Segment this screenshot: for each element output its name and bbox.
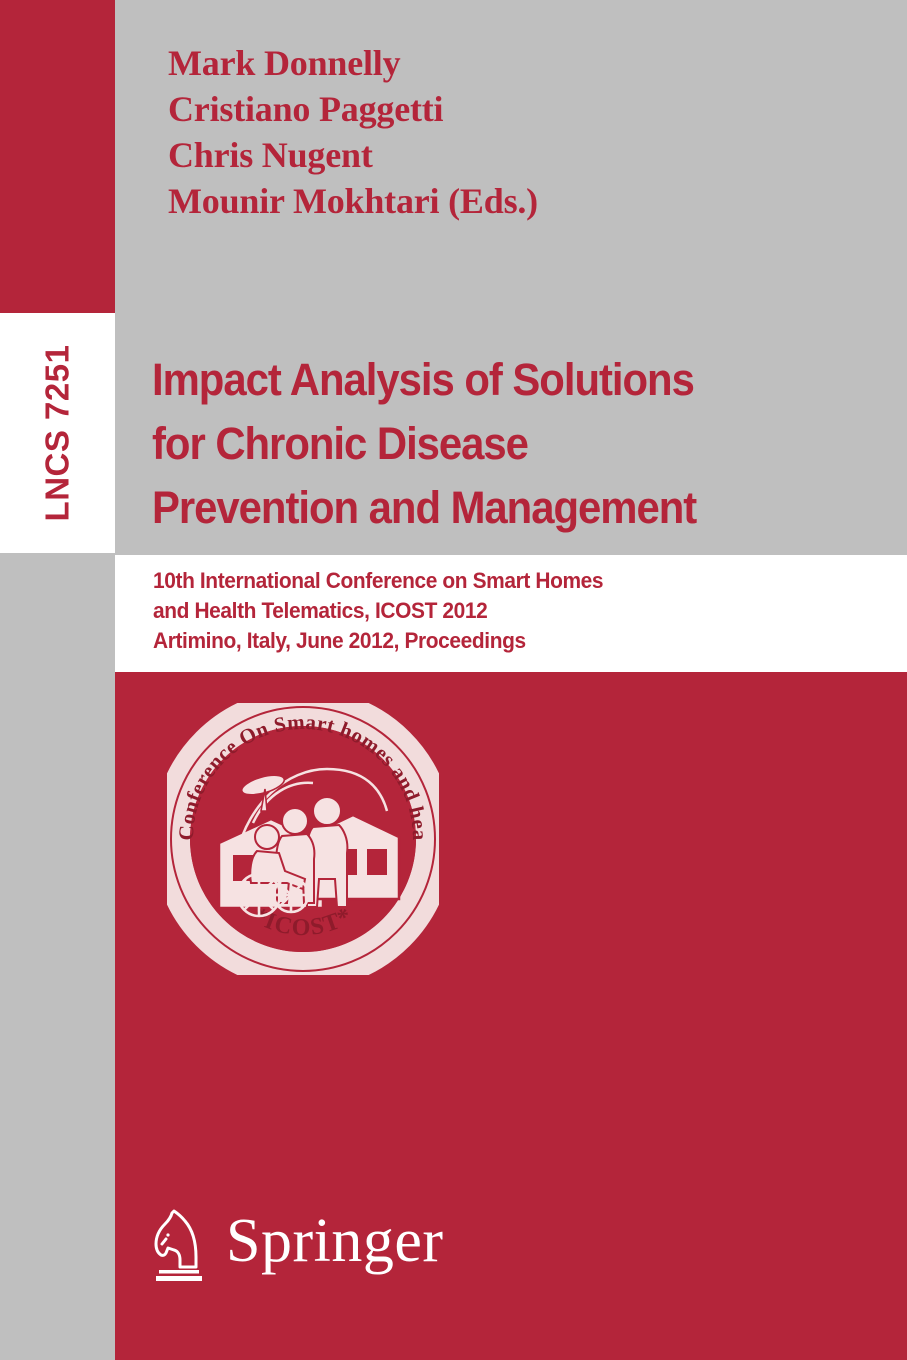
editor-name: Mounir Mokhtari (Eds.) — [168, 178, 868, 224]
book-cover: LNCS 7251 Mark Donnelly Cristiano Pagget… — [0, 0, 907, 1360]
editor-name: Chris Nugent — [168, 132, 868, 178]
editor-name: Cristiano Paggetti — [168, 86, 868, 132]
editor-name: Mark Donnelly — [168, 40, 868, 86]
title-line: Impact Analysis of Solutions — [152, 348, 840, 412]
subtitle-line: 10th International Conference on Smart H… — [153, 566, 856, 596]
publisher-name: Springer — [226, 1210, 444, 1272]
book-subtitle: 10th International Conference on Smart H… — [153, 566, 893, 656]
icost-logo-icon: International Conference On Smart homes … — [167, 703, 439, 975]
subtitle-line: Artimino, Italy, June 2012, Proceedings — [153, 626, 856, 656]
springer-knight-icon — [152, 1205, 210, 1283]
editor-list: Mark Donnelly Cristiano Paggetti Chris N… — [168, 40, 868, 224]
publisher-logo: Springer — [152, 1202, 444, 1286]
title-line: for Chronic Disease — [152, 412, 840, 476]
book-title: Impact Analysis of Solutions for Chronic… — [152, 348, 892, 540]
subtitle-line: and Health Telematics, ICOST 2012 — [153, 596, 856, 626]
red-corner-block — [0, 0, 115, 313]
title-line: Prevention and Management — [152, 476, 840, 540]
gray-left-column — [0, 553, 115, 1360]
series-label-text: LNCS 7251 — [39, 345, 77, 522]
series-label: LNCS 7251 — [0, 313, 115, 553]
